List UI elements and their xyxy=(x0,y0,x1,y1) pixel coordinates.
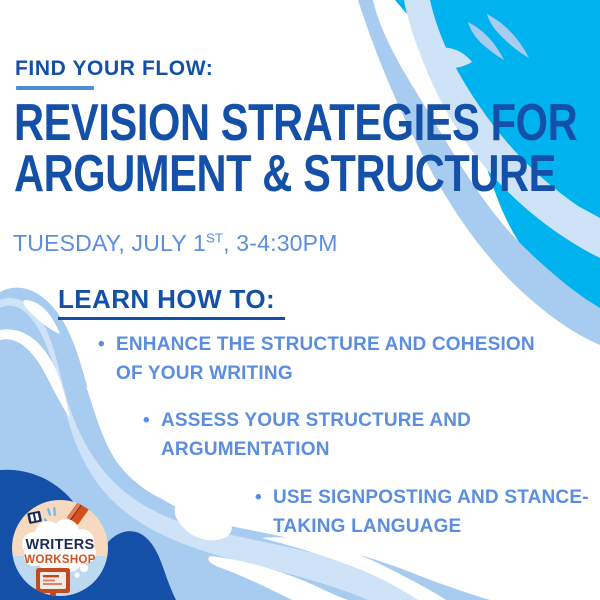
bullet-dot-icon: • xyxy=(255,483,262,512)
list-item: • USE SIGNPOSTING AND STANCE-TAKING LANG… xyxy=(255,483,595,542)
logo-line-2: WORKSHOP xyxy=(24,554,95,566)
page-title: REVISION STRATEGIES FOR ARGUMENT & STRUC… xyxy=(14,98,430,200)
writers-workshop-logo: WRITERS WORKSHOP xyxy=(8,496,112,600)
list-item-text: ENHANCE THE STRUCTURE AND COHESION OF YO… xyxy=(116,330,548,389)
poster-canvas: FIND YOUR FLOW: REVISION STRATEGIES FOR … xyxy=(0,0,600,600)
event-date-main: TUESDAY, JULY 1 xyxy=(13,230,206,256)
event-time-range: , 3-4:30PM xyxy=(223,230,338,256)
event-date-ordinal: ST xyxy=(206,230,223,245)
list-item: • ASSESS YOUR STRUCTURE AND ARGUMENTATIO… xyxy=(143,406,563,465)
list-item: • ENHANCE THE STRUCTURE AND COHESION OF … xyxy=(98,330,548,389)
title-line-1: REVISION STRATEGIES FOR xyxy=(14,98,430,149)
title-line-2: ARGUMENT & STRUCTURE xyxy=(14,149,430,200)
bullet-dot-icon: • xyxy=(98,330,105,359)
eyebrow-text: FIND YOUR FLOW: xyxy=(15,57,213,81)
list-item-text: USE SIGNPOSTING AND STANCE-TAKING LANGUA… xyxy=(273,483,595,542)
event-datetime: TUESDAY, JULY 1ST, 3-4:30PM xyxy=(13,230,338,257)
logo-line-1: WRITERS xyxy=(26,537,95,553)
eyebrow-underline-rule xyxy=(16,86,94,90)
learn-how-to-heading: LEARN HOW TO: xyxy=(58,284,285,320)
list-item-text: ASSESS YOUR STRUCTURE AND ARGUMENTATION xyxy=(161,406,563,465)
logo-circle-badge: WRITERS WORKSHOP xyxy=(8,496,112,600)
bullet-dot-icon: • xyxy=(143,406,150,435)
poster-content: FIND YOUR FLOW: REVISION STRATEGIES FOR … xyxy=(0,0,600,600)
